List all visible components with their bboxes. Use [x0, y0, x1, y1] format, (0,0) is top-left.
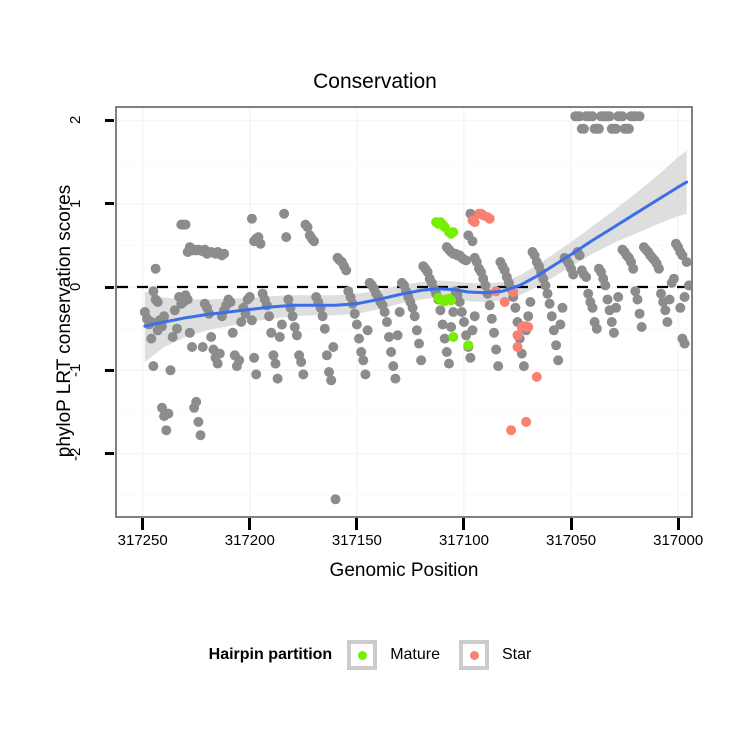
legend-key-star[interactable] — [459, 640, 489, 670]
y-axis-title: phyloP LRT conservation scores — [54, 111, 76, 531]
x-tick-mark — [141, 518, 144, 530]
y-tick-mark — [105, 369, 114, 372]
x-tick-mark — [462, 518, 465, 530]
plot-canvas — [117, 108, 691, 516]
x-tick-label: 317150 — [312, 532, 402, 549]
y-tick-label: -1 — [67, 356, 101, 384]
x-tick-label: 317250 — [98, 532, 188, 549]
legend-label-star: Star — [502, 646, 531, 664]
legend-dot-mature-icon — [358, 651, 367, 660]
y-tick-label: 0 — [67, 273, 101, 301]
y-tick-mark — [105, 452, 114, 455]
y-tick-label: 1 — [67, 190, 101, 218]
series-star-points — [468, 209, 542, 436]
x-tick-label: 317000 — [633, 532, 723, 549]
legend-key-mature[interactable] — [347, 640, 377, 670]
x-tick-mark — [248, 518, 251, 530]
y-tick-label: -2 — [67, 440, 101, 468]
x-tick-label: 317050 — [526, 532, 616, 549]
y-tick-mark — [105, 202, 114, 205]
x-tick-label: 317200 — [205, 532, 295, 549]
x-tick-label: 317100 — [419, 532, 509, 549]
series-other-points — [140, 111, 691, 504]
legend-dot-star-icon — [470, 651, 479, 660]
legend-title: Hairpin partition — [209, 646, 333, 664]
x-tick-mark — [570, 518, 573, 530]
y-tick-label: 2 — [67, 106, 101, 134]
conservation-chart-figure: Conservation phyloP LRT conservation sco… — [0, 0, 750, 750]
page-title: Conservation — [0, 70, 750, 94]
legend: Hairpin partition Mature Star — [0, 640, 750, 670]
x-tick-mark — [355, 518, 358, 530]
plot-panel — [115, 106, 693, 518]
x-tick-mark — [677, 518, 680, 530]
x-axis-title: Genomic Position — [115, 560, 693, 582]
y-tick-mark — [105, 286, 114, 289]
legend-label-mature: Mature — [390, 646, 440, 664]
y-tick-mark — [105, 119, 114, 122]
